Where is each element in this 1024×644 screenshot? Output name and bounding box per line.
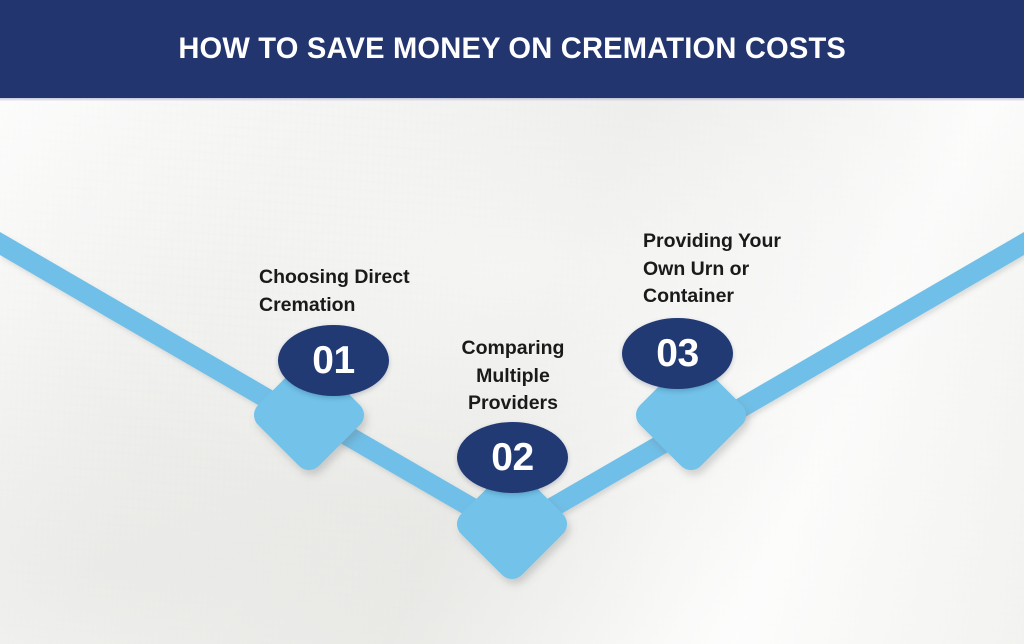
step-number-03: 03 xyxy=(656,334,698,373)
header-band: How to Save Money on Cremation Costs xyxy=(0,0,1024,98)
step-number-01: 01 xyxy=(312,341,354,380)
step-bubble-03[interactable]: 03 xyxy=(622,318,733,389)
page-title: How to Save Money on Cremation Costs xyxy=(178,32,846,66)
infographic-canvas: How to Save Money on Cremation Costs xyxy=(0,0,1024,644)
step-label-01: Choosing Direct Cremation xyxy=(259,264,489,319)
header-underline xyxy=(0,98,1024,101)
step-label-02: Comparing Multiple Providers xyxy=(432,335,594,418)
band-left-outer xyxy=(0,232,296,427)
step-bubble-02[interactable]: 02 xyxy=(457,422,568,493)
step-number-02: 02 xyxy=(491,438,533,477)
step-bubble-01[interactable]: 01 xyxy=(278,325,389,396)
step-label-03: Providing Your Own Urn or Container xyxy=(643,228,843,311)
